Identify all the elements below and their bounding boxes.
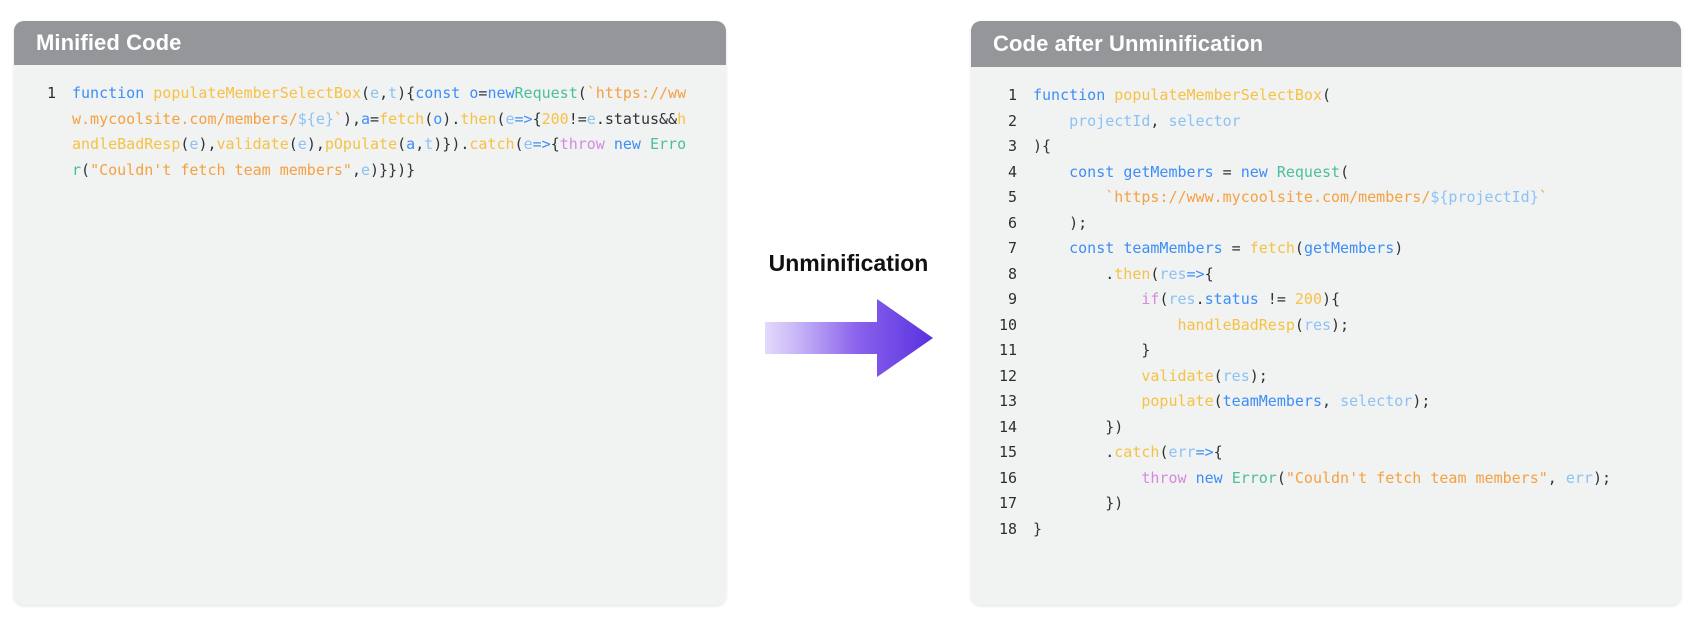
comparison-diagram: Minified Code 1 function populateMemberS…	[0, 0, 1695, 626]
code-line: 2 projectId, selector	[971, 109, 1681, 135]
code-token: e	[506, 110, 515, 128]
code-token: {	[406, 84, 415, 102]
code-token: )}	[370, 161, 388, 179]
code-token: .status	[596, 110, 659, 128]
line-number: 17	[971, 491, 1033, 517]
line-number: 9	[971, 287, 1033, 313]
code-line-text: const teamMembers = fetch(getMembers)	[1033, 236, 1681, 262]
unminified-code-panel-header: Code after Unminification	[971, 21, 1681, 67]
transform-indicator: Unminification	[726, 0, 971, 626]
code-token: (	[1214, 367, 1223, 385]
code-token: function	[72, 84, 153, 102]
code-token: (	[424, 110, 433, 128]
code-line-text: }	[1033, 517, 1681, 543]
minified-code-panel-title: Minified Code	[36, 30, 182, 56]
code-line-text: const getMembers = new Request(	[1033, 160, 1681, 186]
code-token: ,	[379, 84, 388, 102]
line-number: 10	[971, 313, 1033, 339]
code-token: catch	[1114, 443, 1159, 461]
line-number: 1	[14, 81, 72, 107]
line-number: 6	[971, 211, 1033, 237]
code-token: )	[451, 135, 460, 153]
code-token	[1033, 112, 1069, 130]
code-token: (	[1340, 163, 1349, 181]
code-token: populate	[1141, 392, 1213, 410]
code-token: selector	[1168, 112, 1240, 130]
code-token: ,	[1548, 469, 1566, 487]
code-token: e	[361, 161, 370, 179]
code-line-text: ){	[1033, 134, 1681, 160]
code-token: (	[361, 84, 370, 102]
code-token: !=	[1259, 290, 1295, 308]
code-token: then	[1114, 265, 1150, 283]
code-token	[1033, 316, 1178, 334]
code-token: ${	[1430, 188, 1448, 206]
code-token: new	[614, 135, 650, 153]
line-number: 2	[971, 109, 1033, 135]
code-token: new	[487, 84, 514, 102]
code-line: 18}	[971, 517, 1681, 543]
code-line-text: if(res.status != 200){	[1033, 287, 1681, 313]
line-number: 4	[971, 160, 1033, 186]
line-number: 8	[971, 262, 1033, 288]
code-token: `	[334, 110, 343, 128]
code-line-text: throw new Error("Couldn't fetch team mem…	[1033, 466, 1681, 492]
code-line-text: handleBadResp(res);	[1033, 313, 1681, 339]
unminified-code-panel: Code after Unminification 1function popu…	[971, 21, 1681, 605]
minified-code-panel: Minified Code 1 function populateMemberS…	[14, 21, 726, 605]
code-token: t	[424, 135, 433, 153]
code-token: }	[1530, 188, 1539, 206]
code-token: o	[433, 110, 442, 128]
code-token: })	[1033, 494, 1123, 512]
code-line: 1function populateMemberSelectBox(	[971, 83, 1681, 109]
code-token: getMembers	[1304, 239, 1394, 257]
code-token: res	[1168, 290, 1195, 308]
code-token: selector	[1340, 392, 1412, 410]
code-token: )	[307, 135, 316, 153]
line-number: 18	[971, 517, 1033, 543]
code-line-text: .then(res=>{	[1033, 262, 1681, 288]
code-line: 4 const getMembers = new Request(	[971, 160, 1681, 186]
code-token: .	[1033, 443, 1114, 461]
code-token: (	[1277, 469, 1286, 487]
code-token: new	[1241, 163, 1277, 181]
code-line-text: `https://www.mycoolsite.com/members/${pr…	[1033, 185, 1681, 211]
code-line: 5 `https://www.mycoolsite.com/members/${…	[971, 185, 1681, 211]
code-token: ,	[316, 135, 325, 153]
code-token: "Couldn't fetch team members"	[1286, 469, 1548, 487]
code-token: res	[1159, 265, 1186, 283]
code-token: }	[1033, 341, 1150, 359]
code-token: err	[1168, 443, 1195, 461]
code-token: throw	[1141, 469, 1195, 487]
code-token: (	[1295, 239, 1304, 257]
code-token	[1033, 290, 1141, 308]
minified-code-panel-header: Minified Code	[14, 21, 726, 65]
code-token: Error	[1232, 469, 1277, 487]
code-token: throw	[560, 135, 614, 153]
code-token	[1033, 163, 1069, 181]
code-line: 11 }	[971, 338, 1681, 364]
code-token: a	[361, 110, 370, 128]
code-token: =>	[515, 110, 533, 128]
unminified-code-lines: 1function populateMemberSelectBox(2 proj…	[971, 83, 1681, 542]
code-token: })	[1033, 418, 1123, 436]
code-token: e	[370, 84, 379, 102]
code-token: ,	[352, 161, 361, 179]
code-line: 16 throw new Error("Couldn't fetch team …	[971, 466, 1681, 492]
code-token: fetch	[1250, 239, 1295, 257]
code-token: "Couldn't fetch team members"	[90, 161, 352, 179]
code-line: 1 function populateMemberSelectBox(e,t){…	[14, 81, 726, 183]
code-token: projectId	[1448, 188, 1529, 206]
minified-code-body: 1 function populateMemberSelectBox(e,t){…	[14, 65, 726, 605]
code-token	[1033, 188, 1105, 206]
code-line-text: }	[1033, 338, 1681, 364]
code-line-text: .catch(err=>{	[1033, 440, 1681, 466]
code-token: (	[397, 135, 406, 153]
code-token: =>	[533, 135, 551, 153]
code-token: function	[1033, 86, 1114, 104]
code-line-text: populate(teamMembers, selector);	[1033, 389, 1681, 415]
code-token: validate	[1141, 367, 1213, 385]
code-token: e	[524, 135, 533, 153]
code-line-text: function populateMemberSelectBox(	[1033, 83, 1681, 109]
code-token: {	[1205, 265, 1214, 283]
code-token: new	[1196, 469, 1232, 487]
code-token: )	[1394, 239, 1403, 257]
code-token: Request	[515, 84, 578, 102]
code-line-text: );	[1033, 211, 1681, 237]
code-token: .	[1196, 290, 1205, 308]
code-token: =	[1214, 163, 1241, 181]
code-line: 7 const teamMembers = fetch(getMembers)	[971, 236, 1681, 262]
code-token: {	[1214, 443, 1223, 461]
line-number: 11	[971, 338, 1033, 364]
code-token: }	[1033, 520, 1042, 538]
line-number: 13	[971, 389, 1033, 415]
unminified-code-panel-title: Code after Unminification	[993, 31, 1263, 57]
line-number: 12	[971, 364, 1033, 390]
transform-label: Unminification	[769, 250, 929, 277]
code-line: 6 );	[971, 211, 1681, 237]
code-token	[1033, 469, 1141, 487]
code-token: ,	[415, 135, 424, 153]
line-number: 14	[971, 415, 1033, 441]
code-token: );	[1033, 214, 1087, 232]
code-line: 14 })	[971, 415, 1681, 441]
code-token: =>	[1187, 265, 1205, 283]
code-token: validate	[217, 135, 289, 153]
code-token: `	[1539, 188, 1548, 206]
code-token: (	[515, 135, 524, 153]
code-token: &&	[659, 110, 677, 128]
code-token	[1033, 239, 1069, 257]
code-token: })	[388, 161, 406, 179]
code-line: 3){	[971, 134, 1681, 160]
code-token: a	[406, 135, 415, 153]
code-token: `https://www.mycoolsite.com/members/	[1105, 188, 1430, 206]
code-token: getMembers	[1123, 163, 1213, 181]
line-number: 1	[971, 83, 1033, 109]
code-token: (	[1295, 316, 1304, 334]
code-token: res	[1304, 316, 1331, 334]
line-number: 3	[971, 134, 1033, 160]
code-token: }	[406, 161, 415, 179]
code-token: e	[316, 110, 325, 128]
code-token: );	[1412, 392, 1430, 410]
code-token: Request	[1277, 163, 1340, 181]
minified-code-text: function populateMemberSelectBox(e,t){co…	[72, 81, 688, 183]
code-token: (	[496, 110, 505, 128]
code-token: projectId	[1069, 112, 1150, 130]
code-token: teamMembers	[1223, 392, 1322, 410]
code-token: )}	[433, 135, 451, 153]
code-token: populateMemberSelectBox	[1114, 86, 1322, 104]
code-token: ){	[1033, 137, 1051, 155]
code-token: ,	[1150, 112, 1168, 130]
code-line: 15 .catch(err=>{	[971, 440, 1681, 466]
code-line: 17 })	[971, 491, 1681, 517]
code-token: ,	[1322, 392, 1340, 410]
line-number: 7	[971, 236, 1033, 262]
unminified-code-body: 1function populateMemberSelectBox(2 proj…	[971, 67, 1681, 605]
code-token: .	[1033, 265, 1114, 283]
line-number: 16	[971, 466, 1033, 492]
code-line-text: })	[1033, 415, 1681, 441]
code-token: 200	[1295, 290, 1322, 308]
code-line: 13 populate(teamMembers, selector);	[971, 389, 1681, 415]
code-line-text: validate(res);	[1033, 364, 1681, 390]
code-token: )	[397, 84, 406, 102]
code-token: status	[1205, 290, 1259, 308]
code-token: e	[587, 110, 596, 128]
code-token: (	[1214, 392, 1223, 410]
code-line: 12 validate(res);	[971, 364, 1681, 390]
code-token	[1033, 367, 1141, 385]
code-token: =	[1223, 239, 1250, 257]
code-token: catch	[469, 135, 514, 153]
code-token: .	[451, 110, 460, 128]
code-token: {	[551, 135, 560, 153]
code-token: (	[578, 84, 587, 102]
line-number: 15	[971, 440, 1033, 466]
code-line: 10 handleBadResp(res);	[971, 313, 1681, 339]
code-token: =>	[1196, 443, 1214, 461]
code-token: pOpulate	[325, 135, 397, 153]
code-token	[1033, 392, 1141, 410]
code-token: );	[1593, 469, 1611, 487]
code-token: ${	[298, 110, 316, 128]
code-token: )	[343, 110, 352, 128]
code-line-text: })	[1033, 491, 1681, 517]
code-token: e	[298, 135, 307, 153]
code-token: teamMembers	[1123, 239, 1222, 257]
code-token: then	[460, 110, 496, 128]
code-token: ,	[207, 135, 216, 153]
code-token: res	[1223, 367, 1250, 385]
code-token: const	[415, 84, 469, 102]
code-token: t	[388, 84, 397, 102]
code-token: !=	[569, 110, 587, 128]
code-token: handleBadResp	[1178, 316, 1295, 334]
code-token: const	[1069, 239, 1123, 257]
arrow-icon	[765, 299, 933, 377]
code-token: const	[1069, 163, 1123, 181]
code-token: (	[1322, 86, 1331, 104]
code-token: populateMemberSelectBox	[153, 84, 361, 102]
code-token: ,	[352, 110, 361, 128]
code-line: 9 if(res.status != 200){	[971, 287, 1681, 313]
code-token: =	[370, 110, 379, 128]
code-token: fetch	[379, 110, 424, 128]
code-line-text: projectId, selector	[1033, 109, 1681, 135]
code-token: ){	[1322, 290, 1340, 308]
code-token: (	[81, 161, 90, 179]
code-line: 8 .then(res=>{	[971, 262, 1681, 288]
code-token: (	[289, 135, 298, 153]
code-token: );	[1331, 316, 1349, 334]
code-token: {	[533, 110, 542, 128]
code-token: if	[1141, 290, 1159, 308]
code-token: err	[1566, 469, 1593, 487]
code-token: );	[1250, 367, 1268, 385]
code-token: )	[442, 110, 451, 128]
code-token: 200	[542, 110, 569, 128]
line-number: 5	[971, 185, 1033, 211]
code-token: }	[325, 110, 334, 128]
